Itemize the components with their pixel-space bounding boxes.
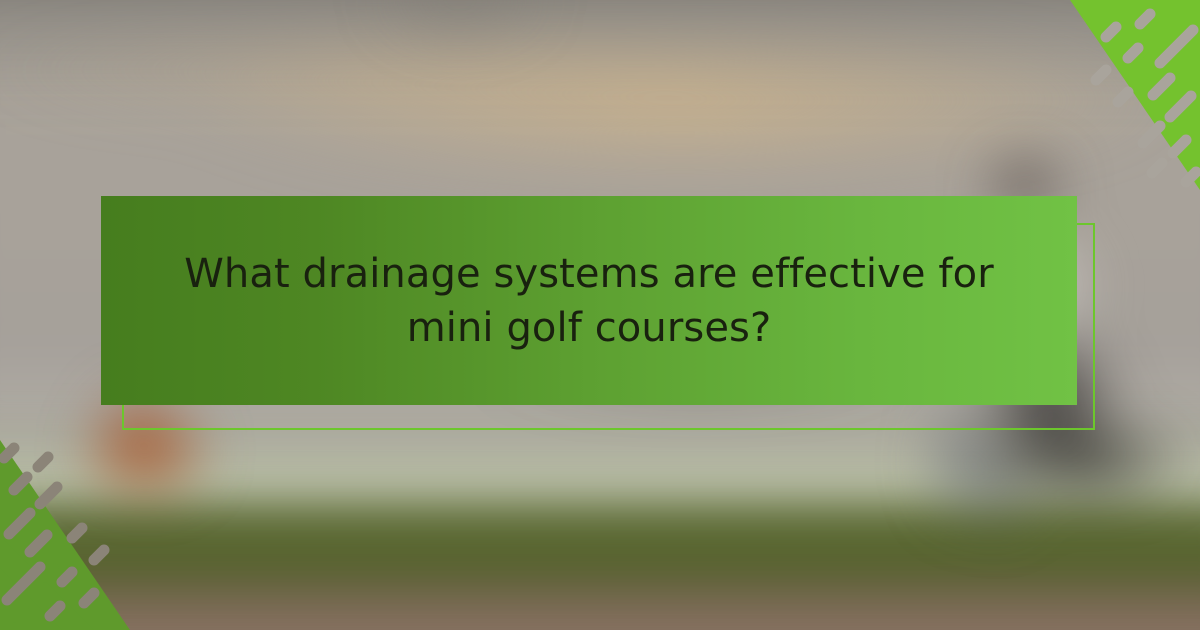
question-text: What drainage systems are effective for … bbox=[141, 247, 1037, 355]
question-card: What drainage systems are effective for … bbox=[101, 196, 1077, 405]
social-card-image: What drainage systems are effective for … bbox=[0, 0, 1200, 630]
